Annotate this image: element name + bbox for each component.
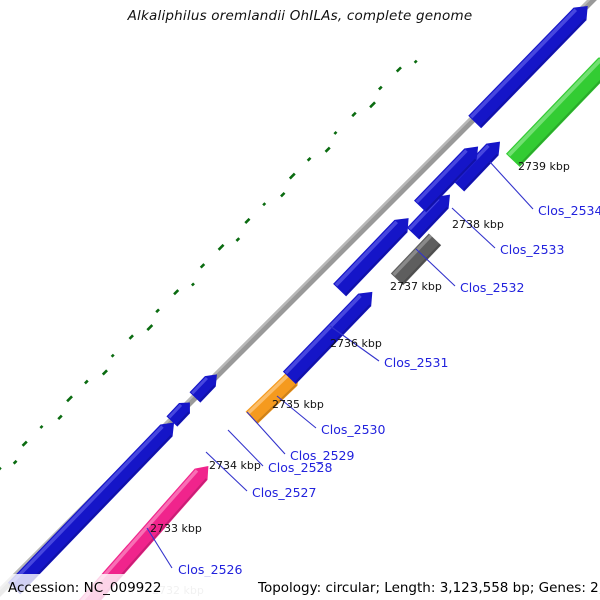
gene-label-clos_2530[interactable]: Clos_2530 xyxy=(321,422,385,437)
gene-arrow-clos_2527[interactable] xyxy=(8,417,180,595)
ruler-tick-label-3: 2735 kbp xyxy=(272,398,324,411)
gene-label-clos_2533[interactable]: Clos_2533 xyxy=(500,242,564,257)
genome-diagram: 2732 kbp2733 kbp2734 kbp2735 kbp2736 kbp… xyxy=(0,0,600,600)
page-title: Alkaliphilus oremlandii OhILAs, complete… xyxy=(0,8,600,24)
ruler-tick-label-7: 2739 kbp xyxy=(518,160,570,173)
gene-label-clos_2532[interactable]: Clos_2532 xyxy=(460,280,524,295)
gene-labels-layer[interactable]: Clos_2526Clos_2527Clos_2528Clos_2529Clos… xyxy=(178,203,600,577)
ruler-tick-label-5: 2737 kbp xyxy=(390,280,442,293)
gene-arrow-clos_2531[interactable] xyxy=(283,286,379,385)
gene-arrows-layer[interactable] xyxy=(8,0,600,600)
gene-label-clos_2527[interactable]: Clos_2527 xyxy=(252,485,316,500)
ruler-tick-label-6: 2738 kbp xyxy=(452,218,504,231)
genome-map-canvas[interactable]: 2732 kbp2733 kbp2734 kbp2735 kbp2736 kbp… xyxy=(0,0,600,600)
ruler-tick-label-4: 2736 kbp xyxy=(330,337,382,350)
ruler-tick-label-1: 2733 kbp xyxy=(150,522,202,535)
topology-text: Topology: circular; Length: 3,123,558 bp… xyxy=(258,580,600,596)
status-bar: Accession: NC_009922 Topology: circular;… xyxy=(0,574,600,600)
gene-label-clos_2529[interactable]: Clos_2529 xyxy=(290,448,354,463)
gene-label-clos_2531[interactable]: Clos_2531 xyxy=(384,355,448,370)
ruler-tick-label-2: 2734 kbp xyxy=(209,459,261,472)
gene-label-clos_2534[interactable]: Clos_2534 xyxy=(538,203,600,218)
accession-text: Accession: NC_009922 xyxy=(8,580,161,596)
